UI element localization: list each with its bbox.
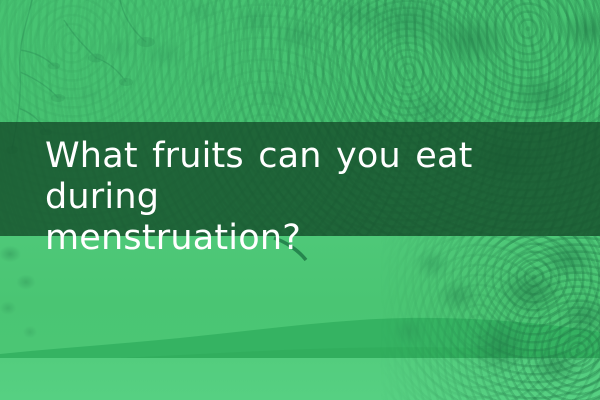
right-treeline — [380, 236, 600, 400]
caption-band: What fruits can you eat during menstruat… — [0, 122, 600, 236]
landscape-region — [0, 236, 600, 400]
hero-banner: What fruits can you eat during menstruat… — [0, 0, 600, 400]
page-title: What fruits can you eat during menstruat… — [45, 136, 550, 259]
